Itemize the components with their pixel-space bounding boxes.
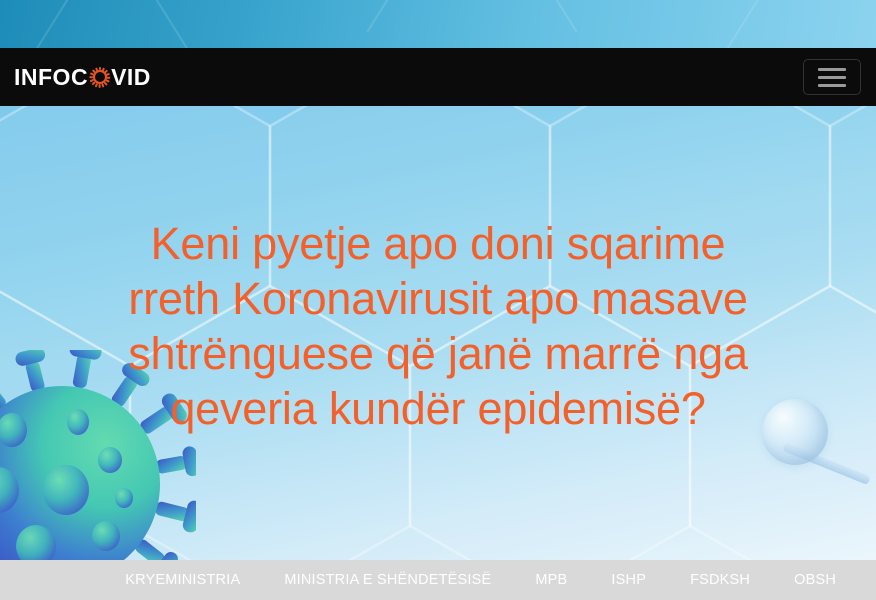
hex-line xyxy=(512,0,577,32)
hex-line xyxy=(7,0,72,48)
footer-link-kryeministria[interactable]: KRYEMINISTRIA xyxy=(103,572,262,588)
footer-link-obsh[interactable]: OBSH xyxy=(772,572,858,588)
page-title: Keni pyetje apo doni sqarime rreth Koron… xyxy=(0,216,876,436)
hero-section: Keni pyetje apo doni sqarime rreth Koron… xyxy=(0,106,876,560)
hex-line xyxy=(152,0,217,48)
brand-text-after: VID xyxy=(111,66,151,89)
brand-logo[interactable]: INFOC VID xyxy=(14,66,151,89)
hex-line xyxy=(367,0,432,32)
hex-line xyxy=(860,0,876,48)
page-root: INFOC VID xyxy=(0,0,876,600)
footer-link-fsdksh[interactable]: FSDKSH xyxy=(668,572,772,588)
hamburger-bar xyxy=(818,76,846,79)
hamburger-menu-button[interactable] xyxy=(803,59,861,95)
coronavirus-icon xyxy=(89,67,110,88)
footer-link-ministria-e-shendetesise[interactable]: MINISTRIA E SHËNDETËSISË xyxy=(262,572,513,588)
brand-text-before: INFOC xyxy=(14,66,88,89)
footer-link-ishp[interactable]: ISHP xyxy=(589,572,668,588)
top-decorative-strip xyxy=(0,0,876,48)
footer-link-mpb[interactable]: MPB xyxy=(513,572,589,588)
footer-links-bar: KRYEMINISTRIA MINISTRIA E SHËNDETËSISË M… xyxy=(0,560,876,600)
navbar: INFOC VID xyxy=(0,48,876,106)
hex-line xyxy=(715,0,780,48)
hamburger-bar xyxy=(818,68,846,71)
hamburger-bar xyxy=(818,84,846,87)
